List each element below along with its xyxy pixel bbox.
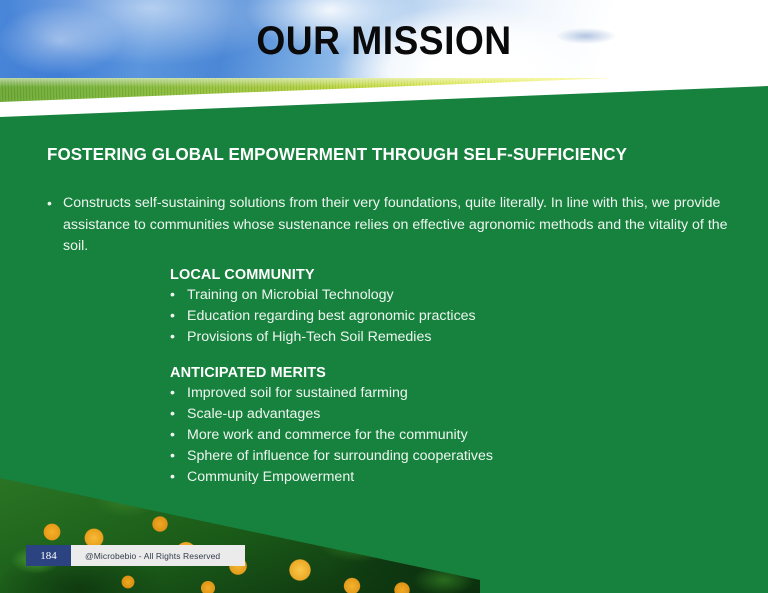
subsection-anticipated-merits: ANTICIPATED MERITS • Improved soil for s… xyxy=(170,365,493,488)
list-item: • Education regarding best agronomic pra… xyxy=(170,306,476,327)
bullet-icon: • xyxy=(170,446,187,467)
list-item-label: Provisions of High-Tech Soil Remedies xyxy=(187,327,431,348)
section-heading: FOSTERING GLOBAL EMPOWERMENT THROUGH SEL… xyxy=(47,144,627,165)
list-item: • Scale-up advantages xyxy=(170,404,493,425)
list-item-label: Education regarding best agronomic pract… xyxy=(187,306,476,327)
list-item-label: Training on Microbial Technology xyxy=(187,285,394,306)
bullet-icon: • xyxy=(170,306,187,327)
list-item-label: Improved soil for sustained farming xyxy=(187,383,408,404)
subsection-heading: ANTICIPATED MERITS xyxy=(170,365,493,381)
list-item-label: Community Empowerment xyxy=(187,467,354,488)
list-item-label: Sphere of influence for surrounding coop… xyxy=(187,446,493,467)
list-item: • More work and commerce for the communi… xyxy=(170,425,493,446)
bullet-icon: • xyxy=(170,467,187,488)
bullet-icon: • xyxy=(170,404,187,425)
subsection-local-community: LOCAL COMMUNITY • Training on Microbial … xyxy=(170,267,476,348)
list-item: • Training on Microbial Technology xyxy=(170,285,476,306)
bullet-icon: • xyxy=(170,383,187,404)
slide-content: FOSTERING GLOBAL EMPOWERMENT THROUGH SEL… xyxy=(0,0,768,593)
list-item-label: Scale-up advantages xyxy=(187,404,320,425)
bullet-icon: • xyxy=(170,327,187,348)
footer-badge: 184 @Microbebio - All Rights Reserved xyxy=(26,545,245,566)
list-item: • Provisions of High-Tech Soil Remedies xyxy=(170,327,476,348)
list-item: • Sphere of influence for surrounding co… xyxy=(170,446,493,467)
subsection-list: • Training on Microbial Technology • Edu… xyxy=(170,285,476,348)
bullet-icon: • xyxy=(47,193,63,214)
intro-text: Constructs self-sustaining solutions fro… xyxy=(63,193,735,258)
copyright-notice: @Microbebio - All Rights Reserved xyxy=(71,545,245,566)
list-item: • Improved soil for sustained farming xyxy=(170,383,493,404)
intro-paragraph: • Constructs self-sustaining solutions f… xyxy=(47,193,737,258)
list-item-label: More work and commerce for the community xyxy=(187,425,468,446)
subsection-heading: LOCAL COMMUNITY xyxy=(170,267,476,283)
bullet-icon: • xyxy=(170,425,187,446)
list-item: • Community Empowerment xyxy=(170,467,493,488)
intro-bullet-row: • Constructs self-sustaining solutions f… xyxy=(47,193,737,258)
subsection-list: • Improved soil for sustained farming • … xyxy=(170,383,493,488)
bullet-icon: • xyxy=(170,285,187,306)
page-number: 184 xyxy=(26,545,71,566)
